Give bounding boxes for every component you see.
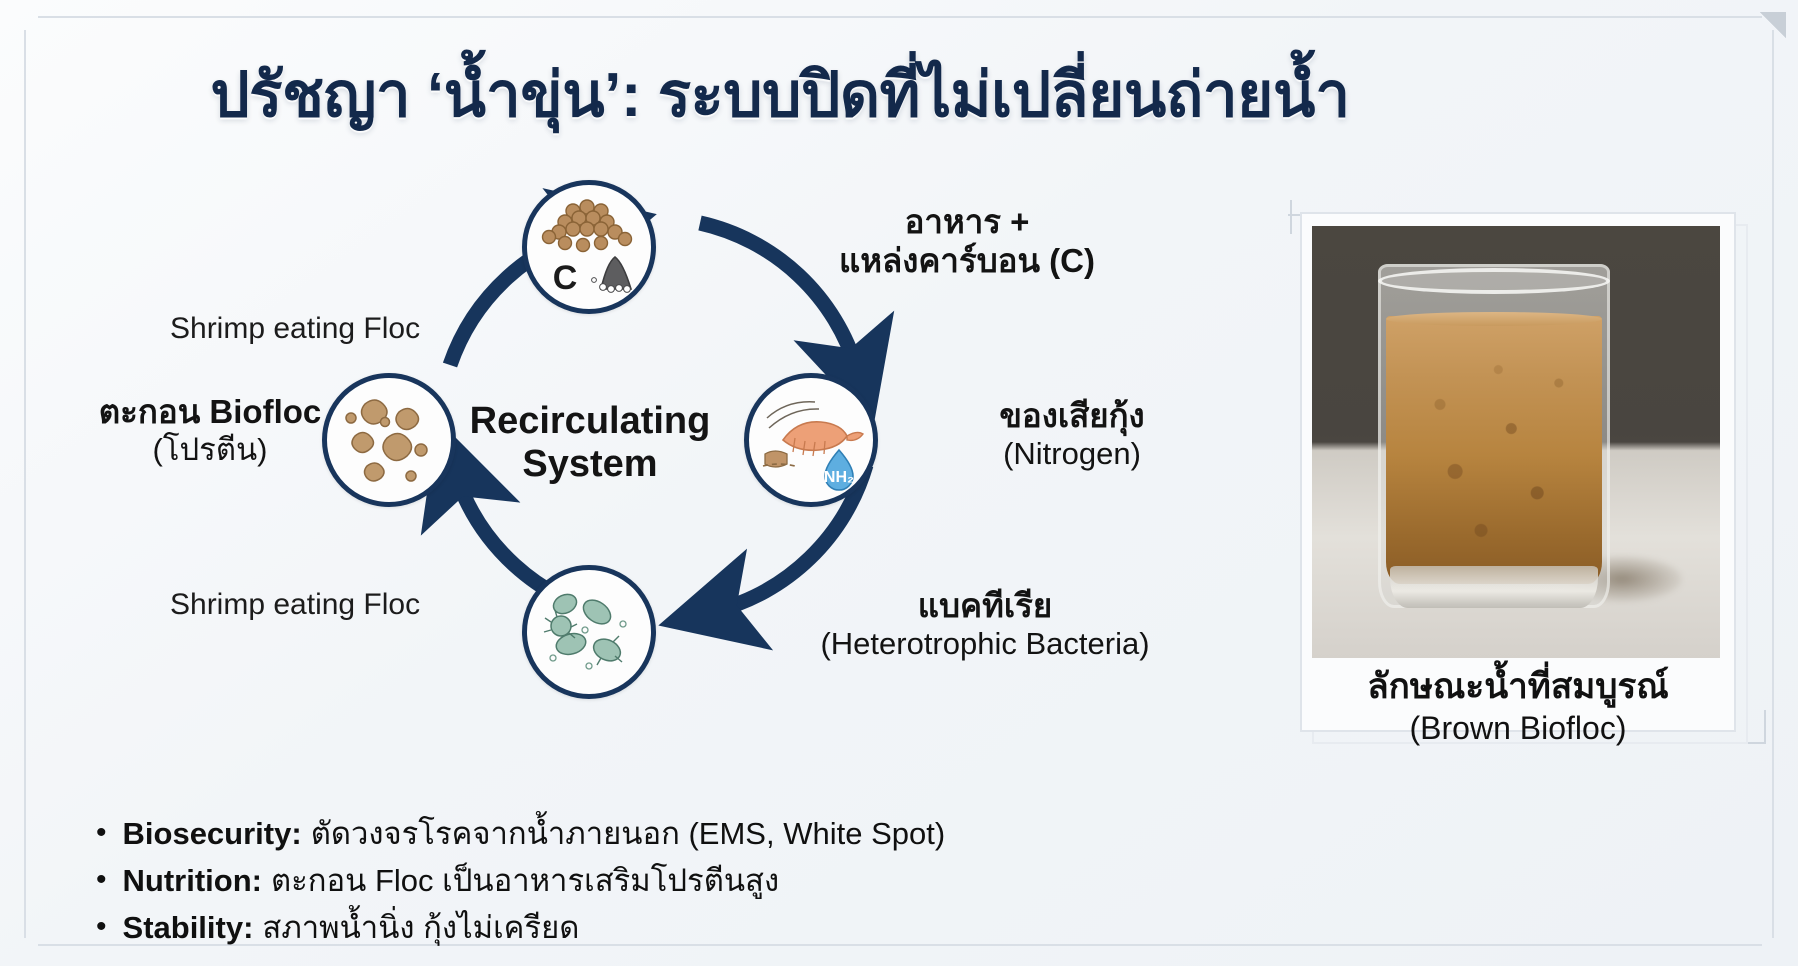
corner-accent-icon xyxy=(1760,12,1786,38)
bullet-term: Biosecurity: xyxy=(123,812,302,856)
cycle-node-bacteria[interactable] xyxy=(522,565,656,699)
recirculating-cycle-diagram: C NH₂ xyxy=(60,175,1250,695)
frame-top-line xyxy=(38,16,1762,18)
nitrogen-symbol-label: NH₂ xyxy=(824,469,854,486)
bullet-marker-icon: • xyxy=(96,859,107,901)
glass-base xyxy=(1390,566,1598,608)
shrimp-waste-icon: NH₂ xyxy=(749,378,873,502)
key-benefits-list: • Biosecurity: ตัดวงจรโรคจากน้ำภายนอก (E… xyxy=(96,812,1226,953)
cycle-label-bacteria: แบคทีเรีย (Heterotrophic Bacteria) xyxy=(750,587,1220,663)
glass-of-water xyxy=(1378,264,1610,608)
frame-left-line xyxy=(24,30,26,938)
cycle-node-shrimp-waste[interactable]: NH₂ xyxy=(744,373,878,507)
photo-caption-en: (Brown Biofloc) xyxy=(1300,708,1736,748)
cycle-arrow-label-bottom: Shrimp eating Floc xyxy=(170,588,420,622)
cycle-label-feed-line2: แหล่งคาร์บอน (C) xyxy=(802,242,1132,281)
photo-caption-th: ลักษณะน้ำที่สมบูรณ์ xyxy=(1300,666,1736,708)
bullet-term: Nutrition: xyxy=(123,859,262,903)
cycle-label-biofloc-th: ตะกอน Biofloc xyxy=(60,393,360,432)
bullet-marker-icon: • xyxy=(96,812,107,854)
cycle-label-bacteria-en: (Heterotrophic Bacteria) xyxy=(750,626,1220,663)
carbon-symbol-label: C xyxy=(553,259,578,297)
bullet-marker-icon: • xyxy=(96,906,107,948)
cycle-center-line-1: Recirculating xyxy=(470,400,711,442)
bullet-description: ตะกอน Floc เป็นอาหารเสริมโปรตีนสูง xyxy=(271,859,779,903)
cycle-label-bacteria-th: แบคทีเรีย xyxy=(750,587,1220,626)
cycle-label-waste-en: (Nitrogen) xyxy=(922,436,1222,473)
cycle-label-feed: อาหาร + แหล่งคาร์บอน (C) xyxy=(802,203,1132,281)
cycle-label-biofloc: ตะกอน Biofloc (โปรตีน) xyxy=(60,393,360,469)
cycle-arrow-label-top: Shrimp eating Floc xyxy=(170,312,420,346)
bacteria-icon xyxy=(527,570,651,694)
cycle-label-biofloc-en: (โปรตีน) xyxy=(60,432,360,469)
cycle-label-waste-th: ของเสียกุ้ง xyxy=(922,397,1222,436)
slide-title: ปรัชญา ‘น้ำขุ่น’: ระบบปิดที่ไม่เปลี่ยนถ่… xyxy=(0,62,1560,130)
list-item: • Stability: สภาพน้ำนิ่ง กุ้งไม่เครียด xyxy=(96,906,1226,950)
slide-canvas: ปรัชญา ‘น้ำขุ่น’: ระบบปิดที่ไม่เปลี่ยนถ่… xyxy=(0,0,1798,966)
liquid-surface xyxy=(1386,312,1602,326)
feed-pellets-carbon-icon: C xyxy=(527,185,651,309)
cycle-node-feed[interactable]: C xyxy=(522,180,656,314)
list-item: • Nutrition: ตะกอน Floc เป็นอาหารเสริมโป… xyxy=(96,859,1226,903)
glass-rim xyxy=(1378,268,1610,294)
photo-crop-mark-right xyxy=(1764,710,1766,744)
brown-biofloc-liquid xyxy=(1386,316,1602,584)
cycle-center-line-2: System xyxy=(522,443,657,485)
cycle-label-feed-line1: อาหาร + xyxy=(802,203,1132,242)
cycle-label-waste: ของเสียกุ้ง (Nitrogen) xyxy=(922,397,1222,473)
bullet-term: Stability: xyxy=(123,906,254,950)
list-item: • Biosecurity: ตัดวงจรโรคจากน้ำภายนอก (E… xyxy=(96,812,1226,856)
bullet-description: ตัดวงจรโรคจากน้ำภายนอก (EMS, White Spot) xyxy=(311,812,945,856)
cycle-center-label: Recirculating System xyxy=(460,400,720,485)
bullet-description: สภาพน้ำนิ่ง กุ้งไม่เครียด xyxy=(262,906,579,950)
biofloc-water-photo xyxy=(1312,226,1720,658)
photo-crop-mark-left xyxy=(1290,200,1292,234)
photo-caption: ลักษณะน้ำที่สมบูรณ์ (Brown Biofloc) xyxy=(1300,666,1736,748)
frame-right-line xyxy=(1772,30,1774,938)
